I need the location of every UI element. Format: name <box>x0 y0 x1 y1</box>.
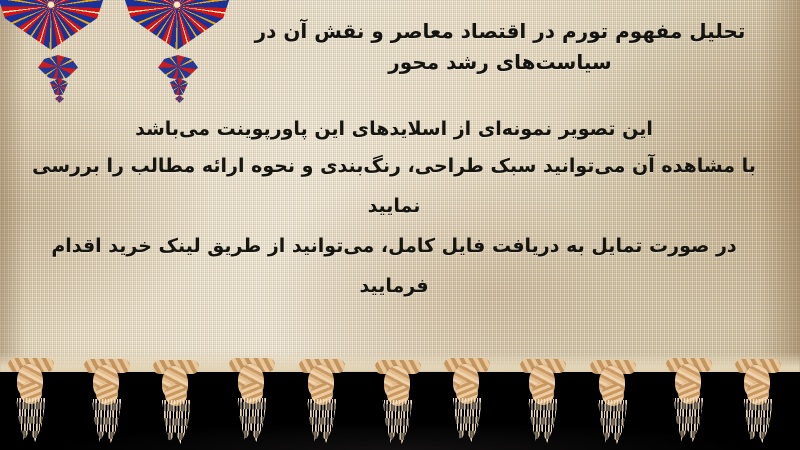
fringe-threads <box>672 398 706 442</box>
fringe-tassel <box>520 359 566 445</box>
fringe-threads <box>90 399 124 443</box>
slide-title-line-1: تحلیل مفهوم تورم در اقتصاد معاصر و نقش آ… <box>255 19 746 43</box>
body-line-3: در صورت تمایل به دریافت فایل کامل، می‌تو… <box>18 226 770 306</box>
fringe-threads <box>14 398 48 442</box>
fringe-tassel <box>229 358 275 444</box>
fringe-threads <box>526 399 560 443</box>
medallion-body-icon <box>122 0 232 50</box>
fringe-threads <box>235 398 269 442</box>
persian-medallion-left <box>0 0 106 50</box>
fringe-tassel <box>8 358 54 444</box>
fringe-tassel <box>590 360 636 446</box>
fringe-tassel <box>444 358 490 444</box>
body-line-1: این تصویر نمونه‌ای از اسلایدهای این پاور… <box>18 112 770 146</box>
body-line-2: با مشاهده آن می‌توانید سبک طراحی، رنگ‌بن… <box>18 146 770 226</box>
fringe-threads <box>596 400 630 444</box>
carpet-fringe <box>0 356 800 446</box>
fringe-tassel <box>153 360 199 446</box>
fringe-threads <box>159 400 193 444</box>
presentation-slide: تحلیل مفهوم تورم در اقتصاد معاصر و نقش آ… <box>0 0 800 450</box>
medallion-body-icon <box>0 0 106 50</box>
fringe-tassel <box>299 359 345 445</box>
slide-title: تحلیل مفهوم تورم در اقتصاد معاصر و نقش آ… <box>240 16 760 78</box>
fringe-tassel <box>666 358 712 444</box>
slide-body: این تصویر نمونه‌ای از اسلایدهای این پاور… <box>18 112 770 306</box>
fringe-threads <box>450 398 484 442</box>
fringe-threads <box>741 399 775 443</box>
persian-medallion-right <box>122 0 232 50</box>
fringe-tassel <box>735 359 781 445</box>
fringe-tassel <box>84 359 130 445</box>
fringe-threads <box>305 399 339 443</box>
slide-title-line-2: سیاست‌های رشد محور <box>388 50 611 74</box>
fringe-tassel <box>375 360 421 446</box>
fringe-threads <box>381 400 415 444</box>
